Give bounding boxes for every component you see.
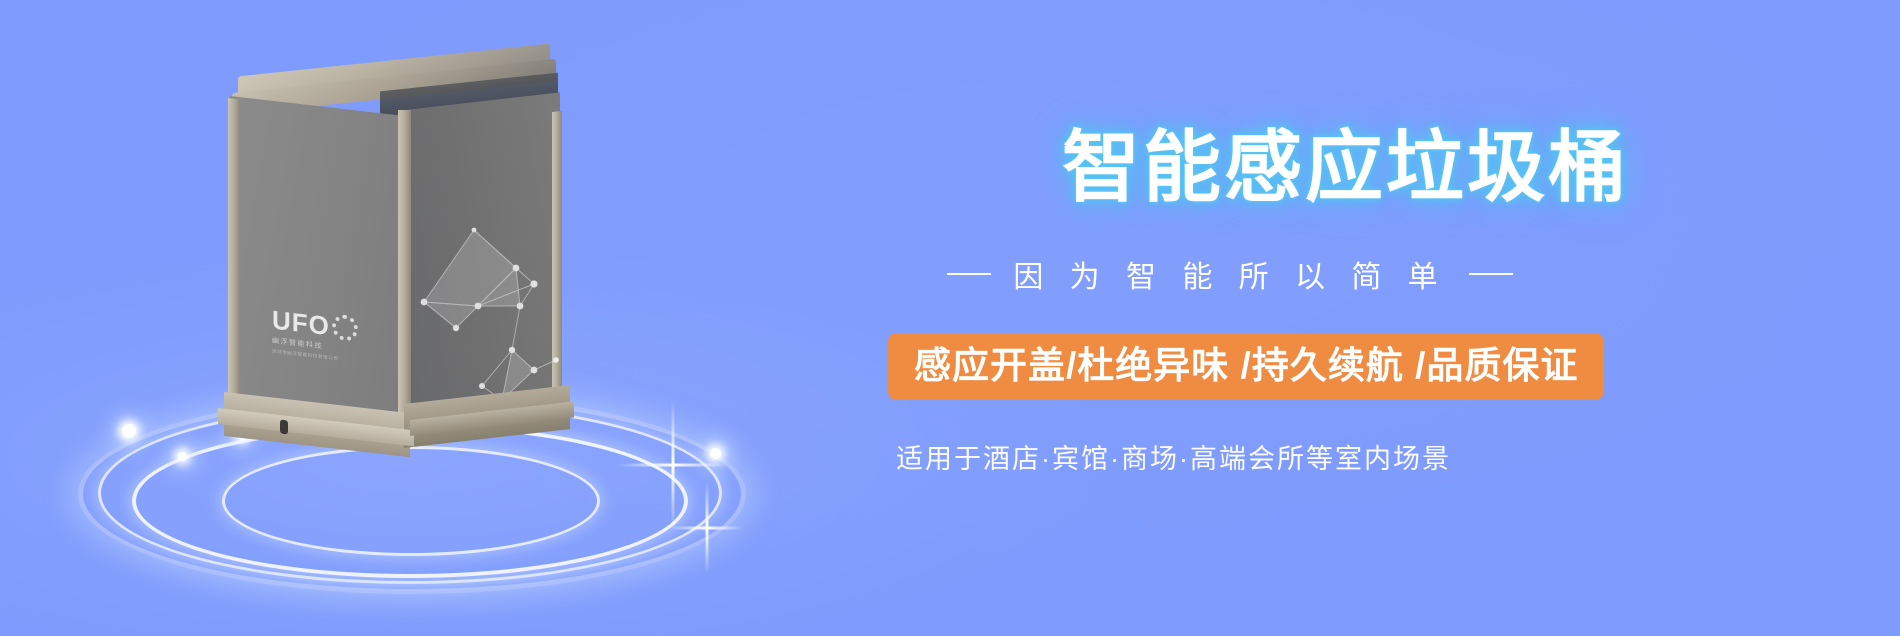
product-promo-banner: UFO 幽浮智能科技 深圳市幽浮智能科技有限公司 智能感应垃圾桶 因 为 智 能… (0, 0, 1900, 636)
cabinet-side-panel (405, 92, 560, 430)
brand-logo: UFO 幽浮智能科技 深圳市幽浮智能科技有限公司 (272, 307, 368, 378)
sparkle-dot-4 (710, 448, 721, 459)
base-sensor-slot (280, 420, 288, 435)
sparkle-dot-1 (122, 424, 136, 438)
marketing-copy-block: 智能感应垃圾桶 因 为 智 能 所 以 简 单 感应开盖/杜绝异味 /持久续航 … (880, 0, 1840, 636)
subtitle-row: 因 为 智 能 所 以 简 单 (880, 252, 1580, 296)
cabinet-front-panel (230, 96, 405, 436)
logo-ring-icon (332, 313, 358, 342)
subtitle-dash-right (1469, 273, 1513, 275)
logo-text: UFO (272, 307, 330, 340)
trash-can-base (218, 392, 572, 458)
cabinet-edge-center (398, 110, 411, 440)
subtitle-dash-left (947, 273, 991, 275)
feature-badge-text: 感应开盖/杜绝异味 /持久续航 /品质保证 (914, 347, 1578, 384)
cabinet-edge-right (552, 111, 562, 424)
product-image-stage: UFO 幽浮智能科技 深圳市幽浮智能科技有限公司 (70, 0, 790, 636)
headline-title: 智能感应垃圾桶 (1062, 128, 1629, 206)
usage-tagline: 适用于酒店·宾馆·商场·高端会所等室内场景 (896, 437, 1451, 476)
subtitle-text: 因 为 智 能 所 以 简 单 (1013, 252, 1446, 296)
smart-trash-can: UFO 幽浮智能科技 深圳市幽浮智能科技有限公司 (230, 60, 560, 440)
feature-badge: 感应开盖/杜绝异味 /持久续航 /品质保证 (888, 333, 1604, 400)
sparkle-dot-2 (178, 452, 187, 461)
cabinet-edge-left (228, 98, 240, 421)
ripple-ring-3 (222, 446, 600, 556)
